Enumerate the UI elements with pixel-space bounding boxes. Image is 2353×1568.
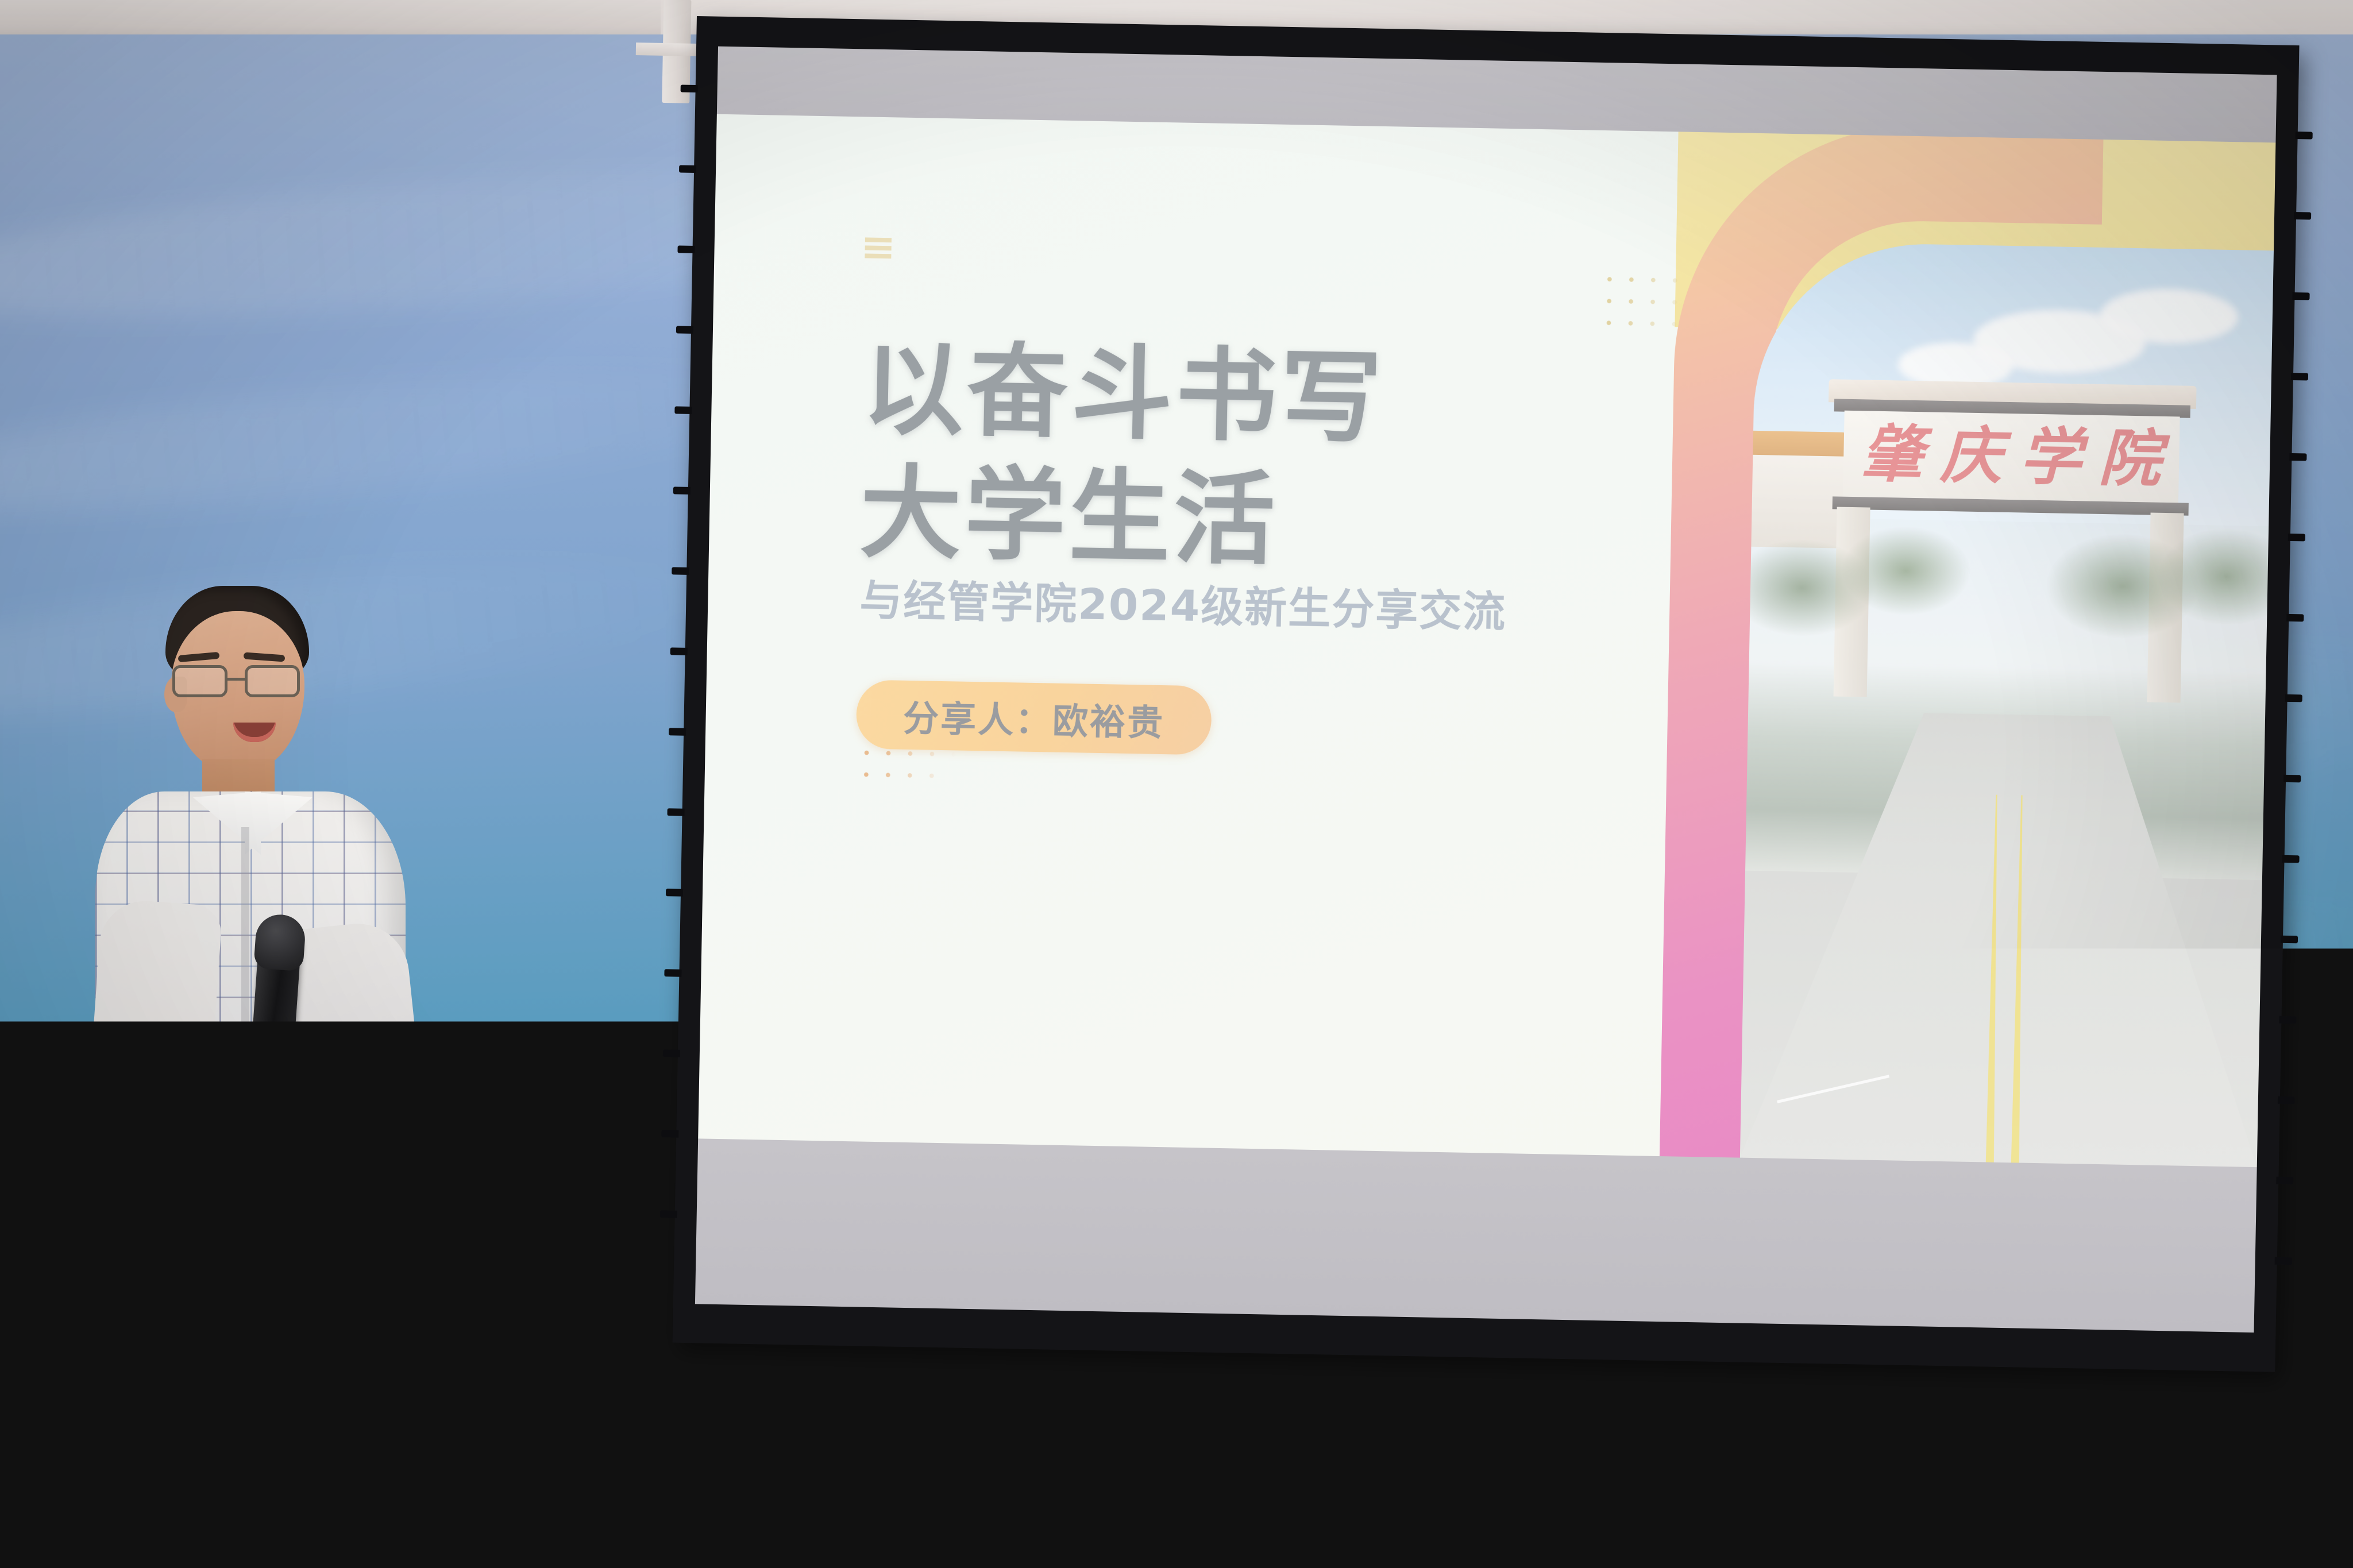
projection-screen: 肇 庆 学 院: [673, 16, 2300, 1372]
screen-edge-tab: [2291, 373, 2308, 381]
glasses-lens-right: [245, 665, 300, 697]
decorative-dot-grid-top-right: [1598, 268, 1714, 339]
screen-edge-tab: [2292, 292, 2309, 300]
screen-edge-tab: [2286, 614, 2304, 622]
slide-title-line-2: 大学生活: [859, 451, 1384, 584]
slide-text-layer: 以奋斗书写 大学生活 与经管学院2024级新生分享交流 分享人：欧裕贵: [698, 114, 2275, 1167]
presenter-badge: 分享人：欧裕贵: [856, 679, 1212, 755]
trousers: [124, 1311, 384, 1568]
screen-edge-tab: [677, 245, 695, 253]
presentation-slide: 肇 庆 学 院: [698, 114, 2275, 1167]
screen-edge-tab: [2279, 1016, 2296, 1024]
screen-mount-arm: [636, 43, 705, 56]
slide-corner-mark: [865, 237, 892, 261]
screen-edge-tab: [2296, 132, 2313, 140]
screen-edge-tab: [674, 406, 692, 414]
screen-edge-tab: [2282, 855, 2299, 863]
screen-edge-tab: [2283, 775, 2301, 783]
baseboard-fastener: [1201, 1378, 1205, 1388]
screen-edge-tab: [669, 728, 686, 736]
screen-edge-tab: [2294, 212, 2311, 220]
screen-edge-tab: [681, 85, 698, 93]
screen-edge-tab: [2288, 534, 2305, 542]
screen-edge-tab: [666, 889, 683, 897]
projection-surface: 肇 庆 学 院: [695, 47, 2277, 1333]
screen-edge-tab: [2285, 694, 2302, 702]
screen-edge-tab: [2276, 1177, 2293, 1185]
screen-edge-tab: [672, 567, 689, 575]
screen-edge-tab: [670, 647, 688, 655]
baseboard-fastener: [1517, 1369, 1521, 1378]
shirt-placket: [241, 827, 249, 1287]
glasses-bridge: [227, 678, 245, 681]
screenshot-root: 肇 庆 学 院: [0, 0, 2353, 1568]
screen-edge-tab: [667, 808, 684, 816]
screen-edge-tab: [663, 1049, 680, 1057]
slide-subtitle: 与经管学院2024级新生分享交流: [859, 566, 1507, 639]
presenter-person: [69, 580, 529, 1568]
slide-title-line-1: 以奋斗书写: [861, 328, 1386, 461]
baseboard-fastener: [655, 1394, 659, 1404]
screen-edge-tab: [2281, 936, 2298, 944]
screen-edge-tab: [679, 165, 696, 173]
screen-edge-tab: [661, 1130, 678, 1138]
glasses: [170, 665, 310, 700]
screen-edge-tab: [2275, 1257, 2292, 1265]
screen-edge-tab: [660, 1210, 677, 1218]
slide-title: 以奋斗书写 大学生活: [859, 328, 1386, 584]
glasses-lens-left: [172, 665, 227, 697]
screen-edge-tab: [673, 486, 691, 495]
screen-edge-tab: [2289, 453, 2306, 461]
letterbox-bottom: [695, 1138, 2257, 1333]
hand-holding-microphone: [241, 1086, 333, 1195]
screen-edge-tab: [664, 969, 681, 977]
screen-edge-tab: [2278, 1096, 2295, 1104]
arm-left: [77, 898, 223, 1273]
screen-edge-tab: [676, 326, 693, 334]
